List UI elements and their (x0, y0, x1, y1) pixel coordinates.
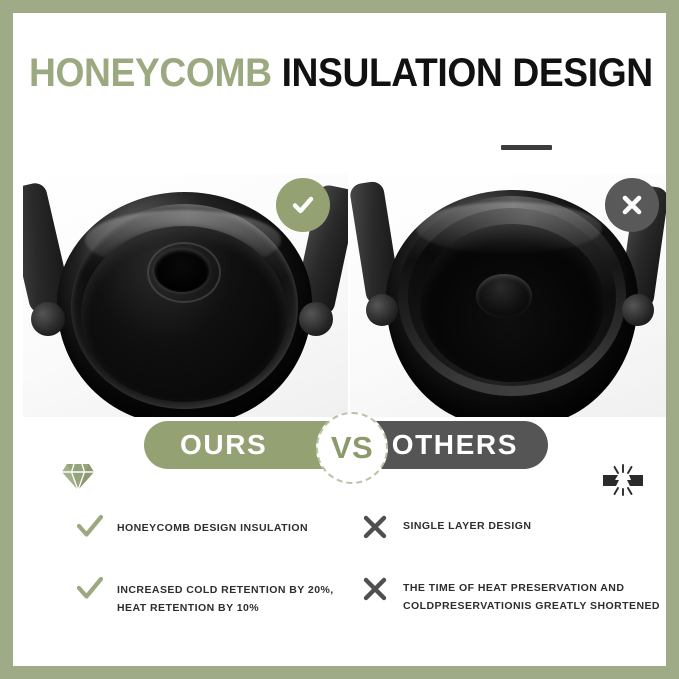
pot-rim-highlight (416, 202, 602, 254)
check-icon (77, 562, 117, 601)
check-icon (288, 190, 318, 220)
feature-row: HONEYCOMB DESIGN INSULATION (77, 500, 377, 562)
feature-list-ours: HONEYCOMB DESIGN INSULATION INCREASED CO… (77, 500, 377, 624)
pot-handle-knob-left (31, 302, 65, 336)
pot-lid-center-hole (154, 248, 210, 292)
x-icon (363, 562, 403, 601)
pot-handle-knob-right (622, 294, 654, 326)
ours-label: OURS (180, 429, 267, 461)
feature-text: HONEYCOMB DESIGN INSULATION (117, 500, 308, 537)
feature-text: THE TIME OF HEAT PRESERVATION AND COLDPR… (403, 562, 660, 615)
x-icon (618, 191, 646, 219)
x-icon (363, 500, 403, 539)
feature-text: INCREASED COLD RETENTION BY 20%, HEAT RE… (117, 562, 334, 617)
pot-interior-center (476, 274, 532, 318)
feature-list-others: SINGLE LAYER DESIGN THE TIME OF HEAT PRE… (363, 500, 663, 624)
page-title-main: INSULATION DESIGN (272, 51, 653, 95)
infographic-page: HONEYCOMB INSULATION DESIGN (0, 0, 679, 679)
x-badge-others (605, 178, 659, 232)
check-badge-ours (276, 178, 330, 232)
feature-line: INCREASED COLD RETENTION BY 20%, (117, 581, 334, 599)
feature-row: THE TIME OF HEAT PRESERVATION AND COLDPR… (363, 562, 663, 624)
pot-handle-knob-right (299, 302, 333, 336)
title-divider-dash (501, 145, 552, 150)
page-title: HONEYCOMB INSULATION DESIGN (29, 49, 615, 97)
diamond-gem-icon (61, 462, 95, 497)
infographic-canvas: HONEYCOMB INSULATION DESIGN (13, 13, 666, 666)
feature-row: INCREASED COLD RETENTION BY 20%, HEAT RE… (77, 562, 377, 624)
pot-handle-knob-left (366, 294, 398, 326)
others-label: OTHERS (392, 429, 518, 461)
feature-line: HEAT RETENTION BY 10% (117, 599, 334, 617)
check-icon (77, 500, 117, 539)
feature-line: COLDPRESERVATIONIS GREATLY SHORTENED (403, 597, 660, 615)
page-title-accent: HONEYCOMB (29, 51, 272, 95)
feature-text: SINGLE LAYER DESIGN (403, 500, 531, 535)
broken-bar-icon (601, 463, 645, 502)
comparison-banner: OTHERS OURS VS (13, 415, 666, 477)
feature-line: HONEYCOMB DESIGN INSULATION (117, 519, 308, 537)
feature-row: SINGLE LAYER DESIGN (363, 500, 663, 562)
vs-badge: VS (316, 412, 388, 484)
vs-label: VS (331, 430, 373, 466)
feature-line: THE TIME OF HEAT PRESERVATION AND (403, 579, 660, 597)
feature-line: SINGLE LAYER DESIGN (403, 517, 531, 535)
